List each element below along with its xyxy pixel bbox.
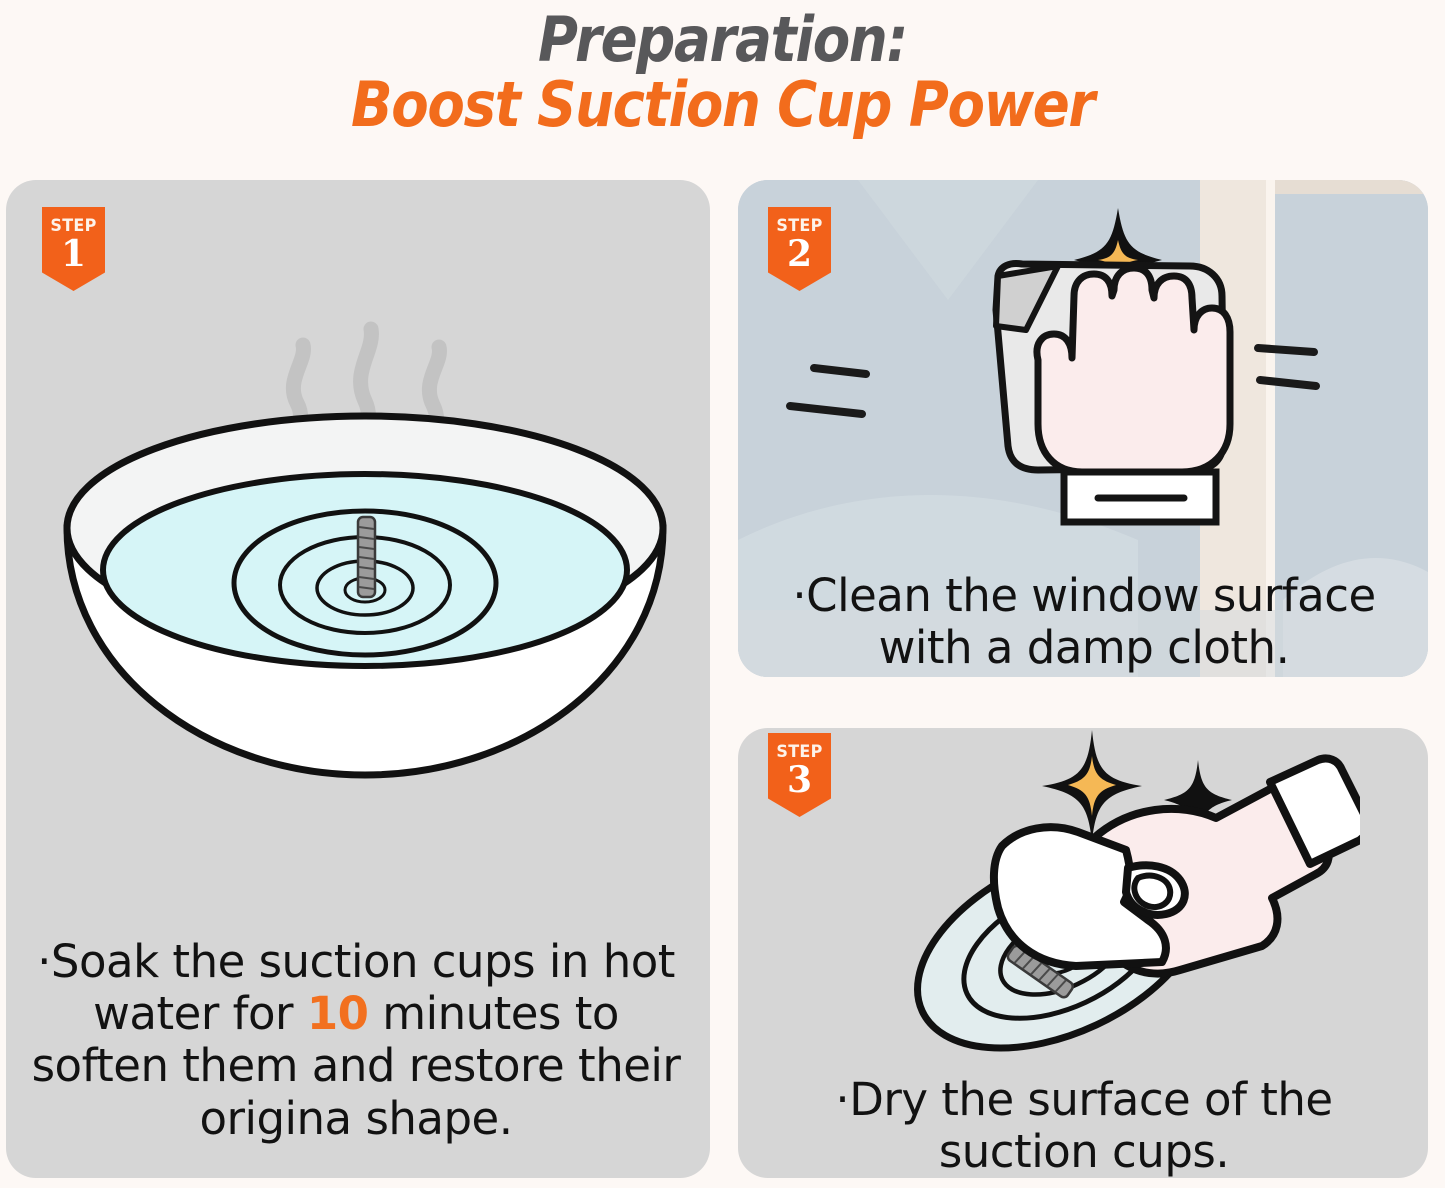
page-title: Preparation: Boost Suction Cup Power (0, 8, 1445, 136)
suction-cup-screw-post (358, 517, 375, 597)
hand-with-cloth (994, 758, 1360, 973)
page-title-line-1: Preparation: (87, 8, 1359, 71)
hand-wiping-window-illustration (738, 180, 1428, 580)
bowl-of-hot-water-illustration (45, 305, 685, 885)
step-badge-3-word: STEP (770, 742, 829, 762)
step-badge-1-word: STEP (44, 216, 103, 236)
motion-lines-right (1258, 348, 1316, 386)
step-1-caption: ·Soak the suction cups in hot water for … (20, 936, 692, 1145)
step-2-caption: ·Clean the window surface with a damp cl… (752, 570, 1416, 674)
motion-lines-left (790, 368, 866, 414)
step-3-caption: ·Dry the surface of the suction cups. (752, 1074, 1416, 1178)
step-badge-1-number: 1 (42, 237, 105, 272)
step-1-caption-highlight: 10 (307, 987, 369, 1040)
page-title-line-2: Boost Suction Cup Power (87, 73, 1359, 136)
step-badge-2-word: STEP (770, 216, 829, 236)
step-badge-2-number: 2 (768, 237, 831, 272)
hand-drying-suction-cup-illustration (880, 722, 1360, 1067)
step-badge-3-number: 3 (768, 763, 831, 798)
